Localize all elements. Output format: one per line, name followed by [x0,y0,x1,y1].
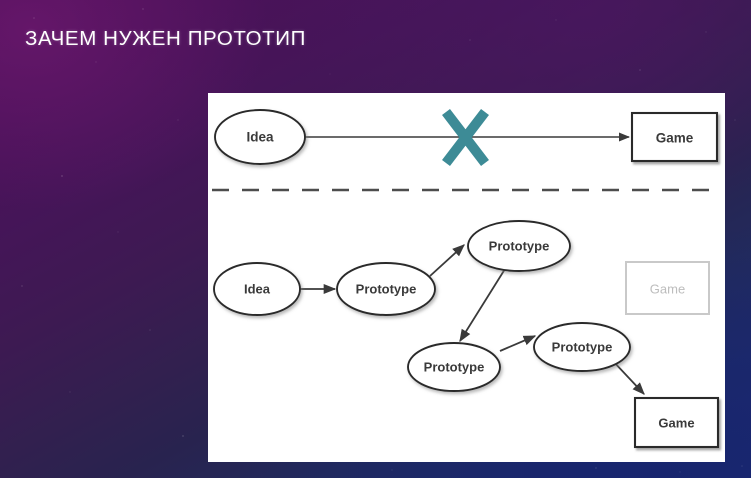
node-idea-bottom-label: Idea [244,282,271,297]
prototype-flow-diagram: Idea Game Idea [208,93,725,462]
node-idea-top-label: Idea [246,130,274,145]
node-game-faded-label: Game [650,282,685,297]
edge-prototype-4-to-game-final [612,360,644,394]
node-game-top-label: Game [656,131,694,146]
node-prototype-1-label: Prototype [356,282,417,297]
edge-prototype-2-to-prototype-3 [460,269,505,341]
node-prototype-3-label: Prototype [424,360,485,375]
page-title: ЗАЧЕМ НУЖЕН ПРОТОТИП [25,27,306,51]
node-game-final-label: Game [658,416,694,431]
edge-prototype-1-to-prototype-2 [430,245,464,276]
edge-prototype-3-to-prototype-4 [500,336,535,351]
slide: ЗАЧЕМ НУЖЕН ПРОТОТИП Idea [0,0,751,478]
diagram-panel: Idea Game Idea [208,93,725,462]
node-prototype-4-label: Prototype [552,340,613,355]
node-prototype-2-label: Prototype [489,239,550,254]
